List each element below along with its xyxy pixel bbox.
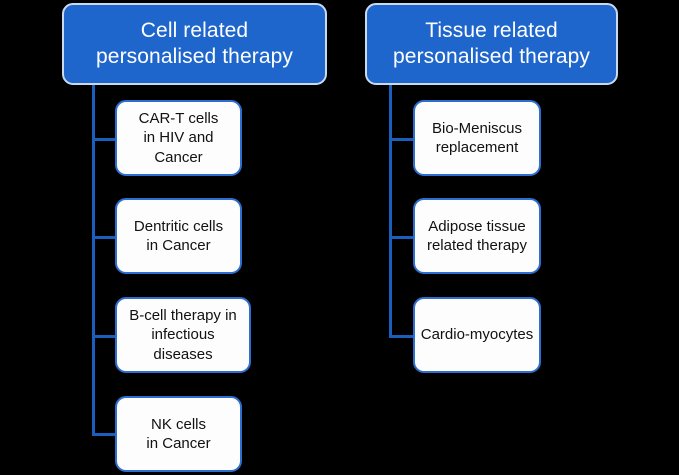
child-line: in Cancer <box>146 434 210 453</box>
child-text-nk-cells: NK cells in Cancer <box>146 415 210 453</box>
child-box-cardio-myocytes[interactable]: Cardio-myocytes <box>413 297 541 373</box>
child-box-nk-cells[interactable]: NK cells in Cancer <box>115 396 242 472</box>
connector-trunk-tissue-related <box>389 85 392 338</box>
connector-branch-cardio-myocytes <box>389 335 415 338</box>
child-box-adipose-tissue[interactable]: Adipose tissue related therapy <box>413 198 541 274</box>
header-text-cell-related: Cell related personalised therapy <box>96 18 293 69</box>
child-line: in HIV and <box>139 128 219 147</box>
child-box-bio-meniscus[interactable]: Bio-Meniscus replacement <box>413 100 541 176</box>
child-line: Bio-Meniscus <box>432 119 522 138</box>
child-text-adipose-tissue: Adipose tissue related therapy <box>427 217 527 255</box>
header-line: Tissue related <box>393 18 590 44</box>
child-line: diseases <box>129 345 237 364</box>
child-text-dentritic-cells: Dentritic cells in Cancer <box>134 217 223 255</box>
connector-branch-nk-cells <box>92 433 117 436</box>
child-line: in Cancer <box>134 236 223 255</box>
header-box-cell-related[interactable]: Cell related personalised therapy <box>62 3 327 85</box>
child-line: Dentritic cells <box>134 217 223 236</box>
connector-branch-bio-meniscus <box>389 138 415 141</box>
child-line: related therapy <box>427 236 527 255</box>
child-box-car-t-cells[interactable]: CAR-T cells in HIV and Cancer <box>115 100 242 176</box>
connector-branch-car-t-cells <box>92 138 117 141</box>
child-line: Cardio-myocytes <box>421 325 534 344</box>
child-text-b-cell-therapy: B-cell therapy in infectious diseases <box>129 306 237 364</box>
child-line: CAR-T cells <box>139 109 219 128</box>
child-line: replacement <box>432 138 522 157</box>
header-box-tissue-related[interactable]: Tissue related personalised therapy <box>365 3 618 85</box>
child-line: infectious <box>129 325 237 344</box>
child-box-dentritic-cells[interactable]: Dentritic cells in Cancer <box>115 198 242 274</box>
connector-branch-b-cell-therapy <box>92 335 117 338</box>
header-line: personalised therapy <box>393 44 590 70</box>
connector-branch-adipose-tissue <box>389 236 415 239</box>
diagram-canvas: Cell related personalised therapy CAR-T … <box>0 0 679 475</box>
child-text-bio-meniscus: Bio-Meniscus replacement <box>432 119 522 157</box>
child-text-car-t-cells: CAR-T cells in HIV and Cancer <box>139 109 219 167</box>
child-box-b-cell-therapy[interactable]: B-cell therapy in infectious diseases <box>115 297 251 373</box>
header-text-tissue-related: Tissue related personalised therapy <box>393 18 590 69</box>
child-line: Adipose tissue <box>427 217 527 236</box>
child-text-cardio-myocytes: Cardio-myocytes <box>421 325 534 344</box>
header-line: personalised therapy <box>96 44 293 70</box>
header-line: Cell related <box>96 18 293 44</box>
child-line: Cancer <box>139 148 219 167</box>
connector-branch-dentritic-cells <box>92 236 117 239</box>
child-line: NK cells <box>146 415 210 434</box>
child-line: B-cell therapy in <box>129 306 237 325</box>
